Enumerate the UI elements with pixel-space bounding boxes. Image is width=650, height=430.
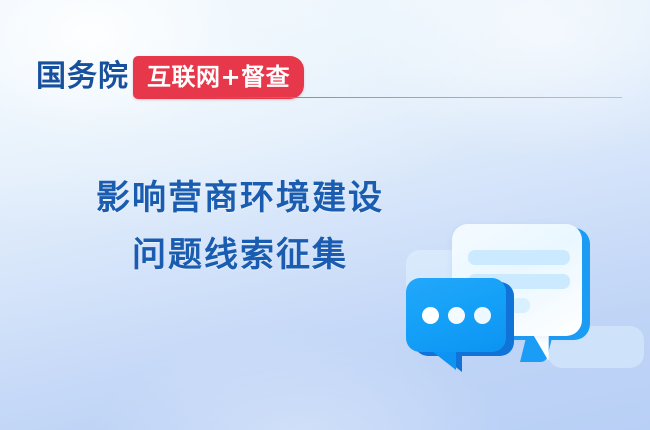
typing-dots-icon (406, 278, 506, 352)
header: 国务院 互联网+督查 (36, 56, 304, 98)
speech-bubbles-illustration (398, 198, 646, 398)
header-divider-rule (190, 97, 622, 98)
page-title: 影响营商环境建设 问题线索征集 (30, 170, 450, 284)
typing-dot-2-icon (448, 307, 465, 324)
poster-banner: 国务院 互联网+督查 影响营商环境建设 问题线索征集 (0, 0, 650, 430)
typing-dot-1-icon (422, 307, 439, 324)
page-title-line-2: 问题线索征集 (30, 227, 450, 284)
typing-dot-3-icon (474, 307, 491, 324)
page-title-line-1: 影响营商环境建设 (30, 170, 450, 227)
gov-council-label: 国务院 (36, 62, 129, 92)
bubble-text-bar-1-icon (468, 250, 570, 265)
internet-supervision-badge: 互联网+督查 (133, 56, 304, 99)
background-glow-top-right (360, 0, 650, 160)
